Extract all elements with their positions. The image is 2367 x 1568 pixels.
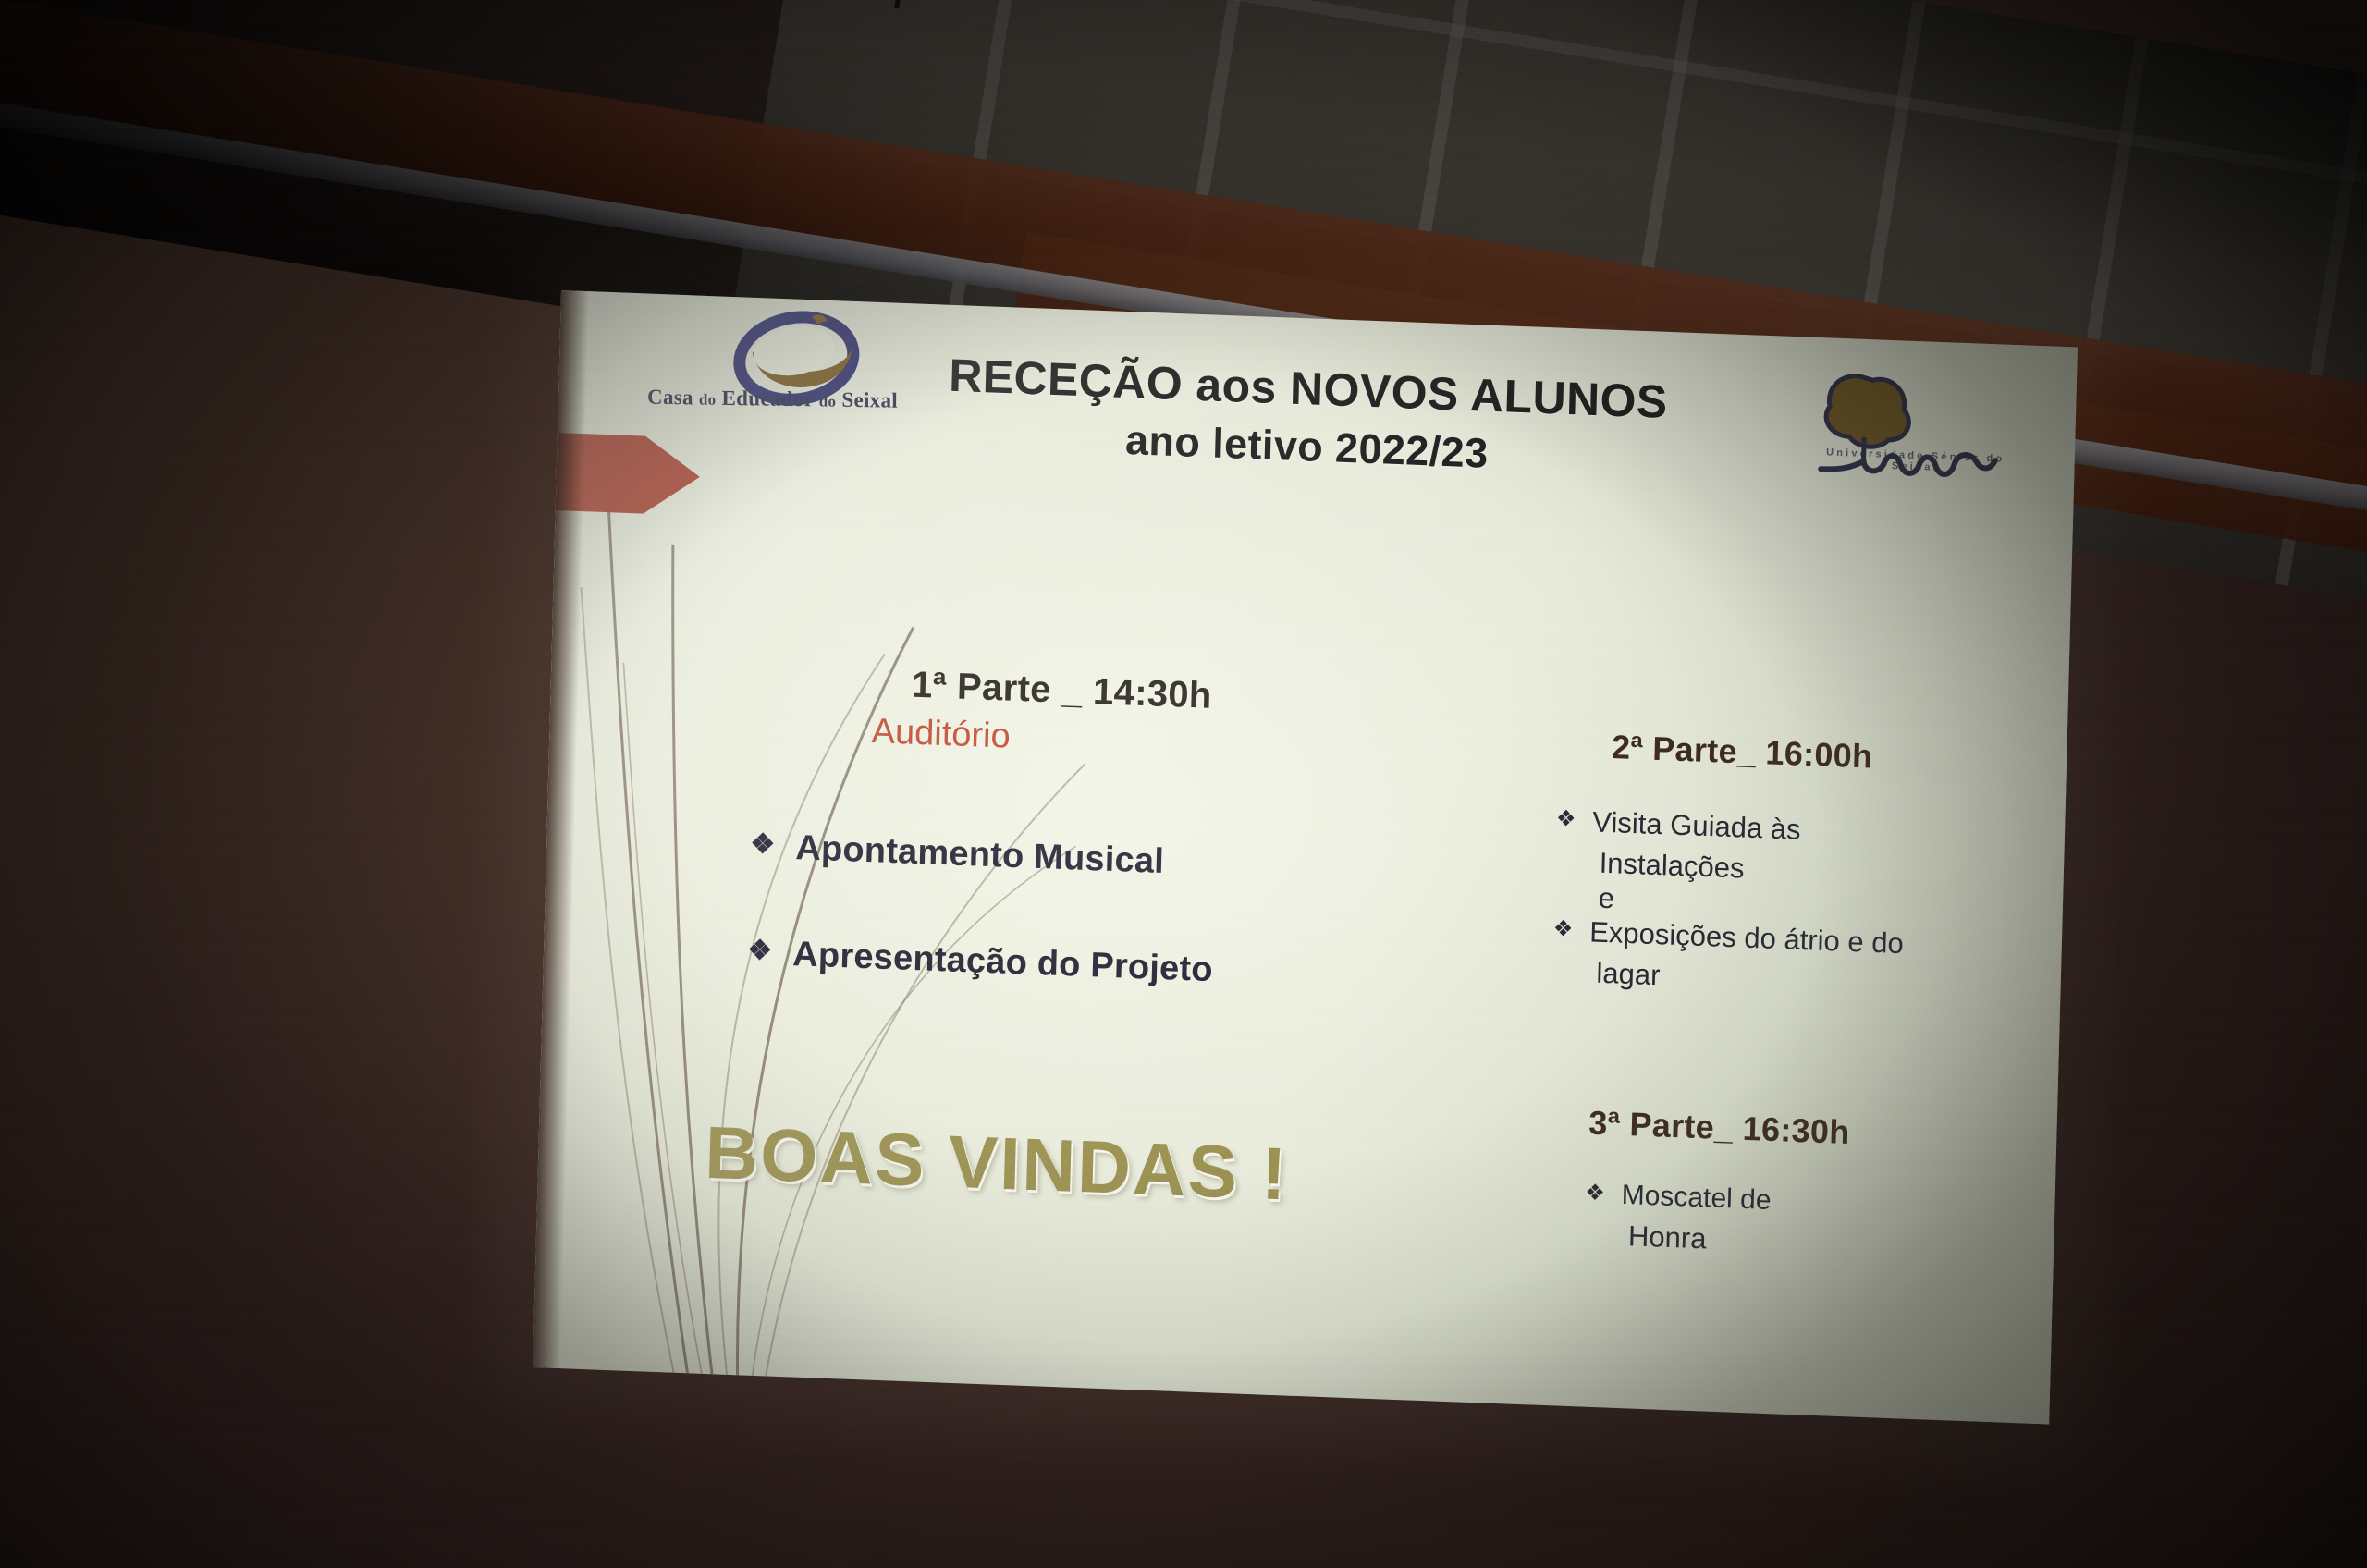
photo-of-projected-slide: Casa do Educador do Seixal Universidade … <box>0 0 2367 1568</box>
room-vignette <box>0 0 2367 1568</box>
